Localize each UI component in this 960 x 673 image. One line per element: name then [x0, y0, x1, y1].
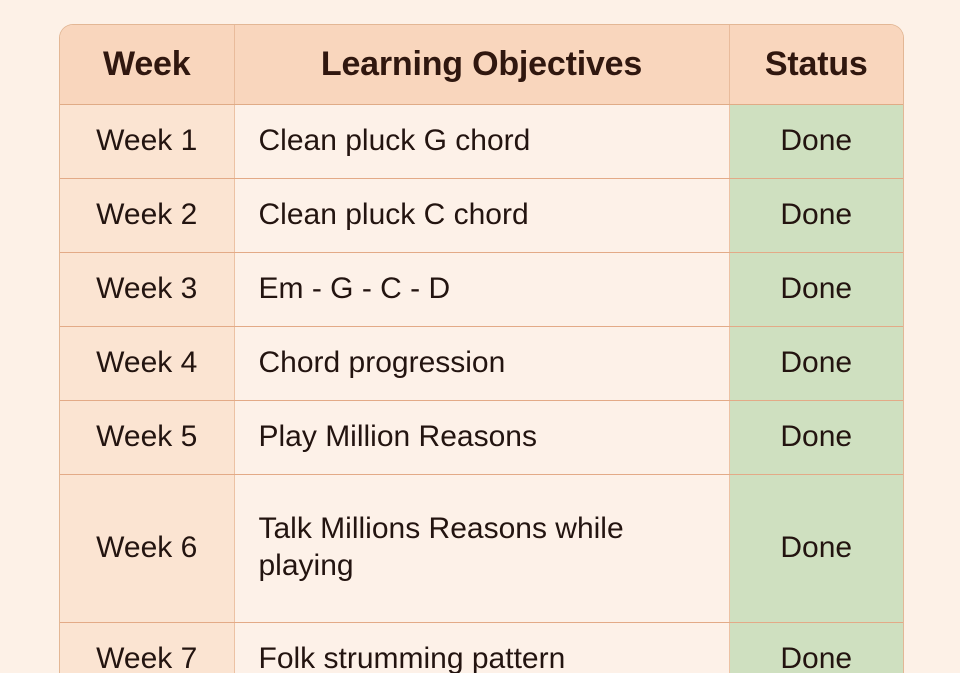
cell-objective: Clean pluck C chord — [234, 178, 729, 252]
status-badge[interactable]: Done — [729, 326, 903, 400]
cell-objective: Chord progression — [234, 326, 729, 400]
table-row[interactable]: Week 4 Chord progression Done — [60, 326, 903, 400]
cell-objective: Em - G - C - D — [234, 252, 729, 326]
table-header-row: Week Learning Objectives Status — [60, 25, 903, 104]
status-badge[interactable]: Done — [729, 104, 903, 178]
cell-week: Week 6 — [60, 474, 234, 622]
table-header: Week Learning Objectives Status — [60, 25, 903, 104]
cell-objective: Clean pluck G chord — [234, 104, 729, 178]
status-badge[interactable]: Done — [729, 252, 903, 326]
column-header-objective[interactable]: Learning Objectives — [234, 25, 729, 104]
cell-objective: Talk Millions Reasons while playing — [234, 474, 729, 622]
table-row[interactable]: Week 2 Clean pluck C chord Done — [60, 178, 903, 252]
cell-objective: Play Million Reasons — [234, 400, 729, 474]
status-badge[interactable]: Done — [729, 474, 903, 622]
learning-schedule-table: Week Learning Objectives Status Week 1 C… — [60, 25, 903, 673]
cell-week: Week 3 — [60, 252, 234, 326]
cell-week: Week 1 — [60, 104, 234, 178]
status-badge[interactable]: Done — [729, 400, 903, 474]
cell-objective: Folk strumming pattern — [234, 622, 729, 673]
status-badge[interactable]: Done — [729, 622, 903, 673]
table-row[interactable]: Week 5 Play Million Reasons Done — [60, 400, 903, 474]
cell-week: Week 7 — [60, 622, 234, 673]
status-badge[interactable]: Done — [729, 178, 903, 252]
column-header-week[interactable]: Week — [60, 25, 234, 104]
column-header-status[interactable]: Status — [729, 25, 903, 104]
cell-week: Week 4 — [60, 326, 234, 400]
table-body: Week 1 Clean pluck G chord Done Week 2 C… — [60, 104, 903, 673]
table-row[interactable]: Week 7 Folk strumming pattern Done — [60, 622, 903, 673]
cell-week: Week 2 — [60, 178, 234, 252]
table-row[interactable]: Week 6 Talk Millions Reasons while playi… — [60, 474, 903, 622]
table-row[interactable]: Week 1 Clean pluck G chord Done — [60, 104, 903, 178]
cell-week: Week 5 — [60, 400, 234, 474]
page-root: Week Learning Objectives Status Week 1 C… — [0, 0, 960, 673]
table-row[interactable]: Week 3 Em - G - C - D Done — [60, 252, 903, 326]
